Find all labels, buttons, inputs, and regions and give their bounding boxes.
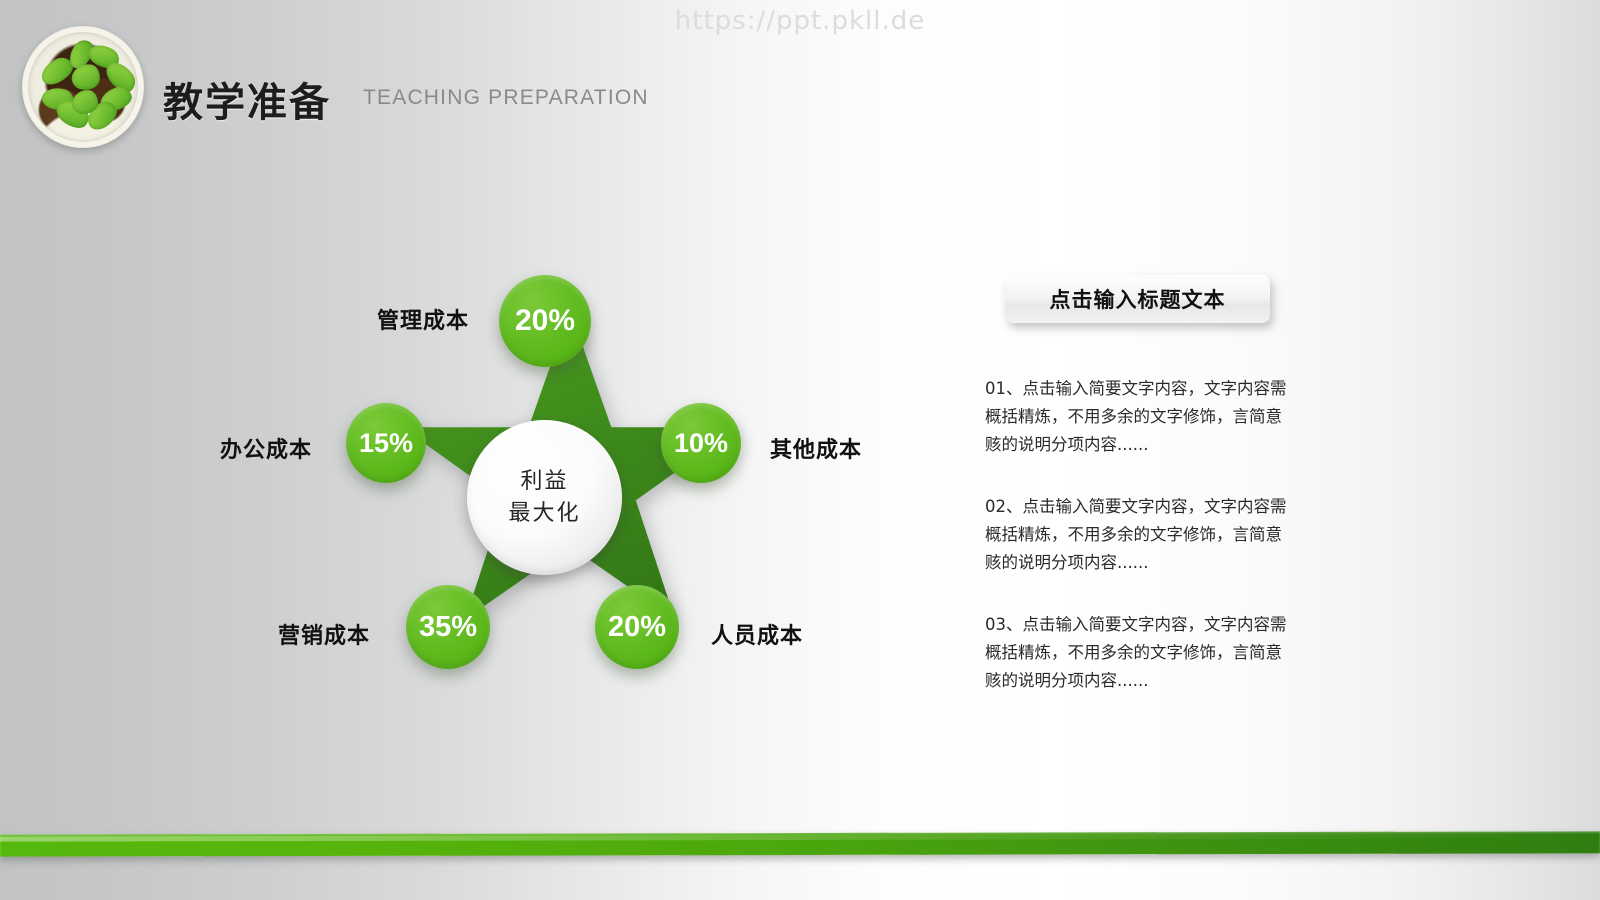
diagram-center-hub: 利益 最大化 [467, 420, 622, 575]
hub-line-1: 利益 [520, 466, 568, 498]
node-yingxiao-chengben[interactable]: 35% [406, 585, 490, 669]
content-panel: 点击输入标题文本 01、点击输入简要文字内容，文字内容需概括精炼，不用多余的文字… [985, 275, 1325, 695]
node-value: 15% [359, 428, 413, 459]
node-value: 20% [608, 611, 666, 644]
plant-pot-image [26, 30, 140, 144]
node-value: 35% [419, 611, 477, 644]
panel-title-box[interactable]: 点击输入标题文本 [1005, 275, 1270, 323]
page-subtitle: TEACHING PREPARATION [363, 86, 649, 110]
page-title: 教学准备 [163, 70, 331, 128]
node-renyuan-chengben[interactable]: 20% [595, 585, 679, 669]
node-qita-chengben[interactable]: 10% [661, 403, 741, 483]
panel-title-text: 点击输入标题文本 [1050, 284, 1226, 314]
node-label-guanli-chengben: 管理成本 [377, 303, 469, 335]
node-guanli-chengben[interactable]: 20% [499, 275, 591, 367]
hub-line-2: 最大化 [508, 498, 580, 530]
node-label-qita-chengben: 其他成本 [770, 432, 862, 464]
slide-canvas: https://ppt.pkll.de 教学准备 TEACHING PREPAR… [0, 0, 1600, 900]
bottom-accent-bar [0, 831, 1600, 856]
paragraph-03: 03、点击输入简要文字内容，文字内容需概括精炼，不用多余的文字修饰，言简意赅的说… [985, 611, 1290, 695]
node-value: 10% [674, 428, 728, 459]
node-value: 20% [515, 304, 575, 338]
node-label-renyuan-chengben: 人员成本 [711, 618, 803, 650]
node-label-bangong-chengben: 办公成本 [220, 432, 312, 464]
watermark-text: https://ppt.pkll.de [0, 6, 1600, 36]
plant-pot-logo [22, 26, 144, 148]
paragraph-01: 01、点击输入简要文字内容，文字内容需概括精炼，不用多余的文字修饰，言简意赅的说… [985, 375, 1290, 459]
paragraph-02: 02、点击输入简要文字内容，文字内容需概括精炼，不用多余的文字修饰，言简意赅的说… [985, 493, 1290, 577]
node-label-yingxiao-chengben: 营销成本 [278, 618, 370, 650]
node-bangong-chengben[interactable]: 15% [346, 403, 426, 483]
bar-sheen [0, 833, 1600, 841]
